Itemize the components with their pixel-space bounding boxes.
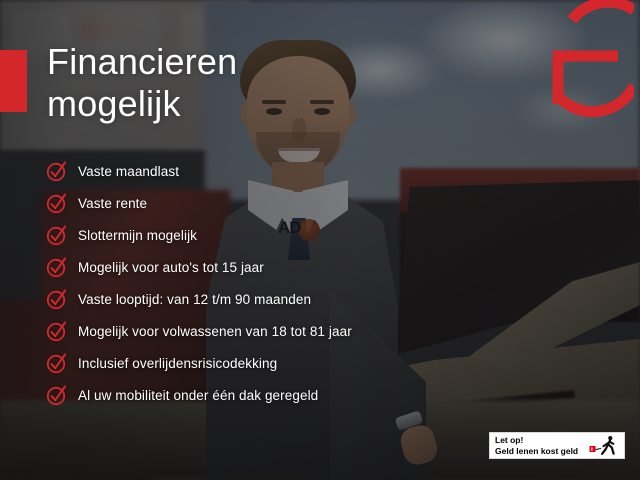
list-item-label: Vaste looptijd: van 12 t/m 90 maanden <box>78 292 311 307</box>
list-item-label: Mogelijk voor auto's tot 15 jaar <box>78 260 264 275</box>
man-pulling-money-block-icon <box>589 435 619 457</box>
list-item-label: Slottermijn mogelijk <box>78 228 197 243</box>
financing-promo-banner: AD Financieren mogelijk <box>0 0 640 480</box>
list-item-label: Vaste maandlast <box>78 164 179 179</box>
sweater-logo-text: AD <box>278 218 301 237</box>
warning-line-1: Let op! <box>495 435 589 446</box>
red-arc-arrow-logo-icon <box>538 0 634 120</box>
list-item: Al uw mobiliteit onder één dak geregeld <box>46 379 352 411</box>
feature-list: Vaste maandlast Vaste rente <box>46 155 352 411</box>
list-item: Mogelijk voor volwassenen van 18 tot 81 … <box>46 315 352 347</box>
list-item-label: Mogelijk voor volwassenen van 18 tot 81 … <box>78 324 352 339</box>
check-circle-icon <box>46 384 68 406</box>
check-circle-icon <box>46 256 68 278</box>
banner-content: Financieren mogelijk Vaste maandlast <box>0 0 640 480</box>
list-item: Inclusief overlijdensrisicodekking <box>46 347 352 379</box>
check-circle-icon <box>46 320 68 342</box>
list-item: Mogelijk voor auto's tot 15 jaar <box>46 251 352 283</box>
title-line-1: Financieren <box>47 41 237 83</box>
check-circle-icon <box>46 352 68 374</box>
list-item-label: Inclusief overlijdensrisicodekking <box>78 356 277 371</box>
page-title: Financieren mogelijk <box>47 41 237 125</box>
check-circle-icon <box>46 160 68 182</box>
title-line-2: mogelijk <box>47 83 237 125</box>
check-circle-icon <box>46 288 68 310</box>
check-circle-icon <box>46 192 68 214</box>
warning-line-2: Geld lenen kost geld <box>495 446 589 457</box>
list-item: Vaste looptijd: van 12 t/m 90 maanden <box>46 283 352 315</box>
list-item-label: Vaste rente <box>78 196 147 211</box>
red-accent-bar <box>0 50 27 112</box>
list-item: Slottermijn mogelijk <box>46 219 352 251</box>
list-item-label: Al uw mobiliteit onder één dak geregeld <box>78 388 318 403</box>
list-item: Vaste rente <box>46 187 352 219</box>
check-circle-icon <box>46 224 68 246</box>
list-item: Vaste maandlast <box>46 155 352 187</box>
warning-badge-text: Let op! Geld lenen kost geld <box>495 435 589 457</box>
status-badge: Let op! Geld lenen kost geld <box>489 432 625 459</box>
